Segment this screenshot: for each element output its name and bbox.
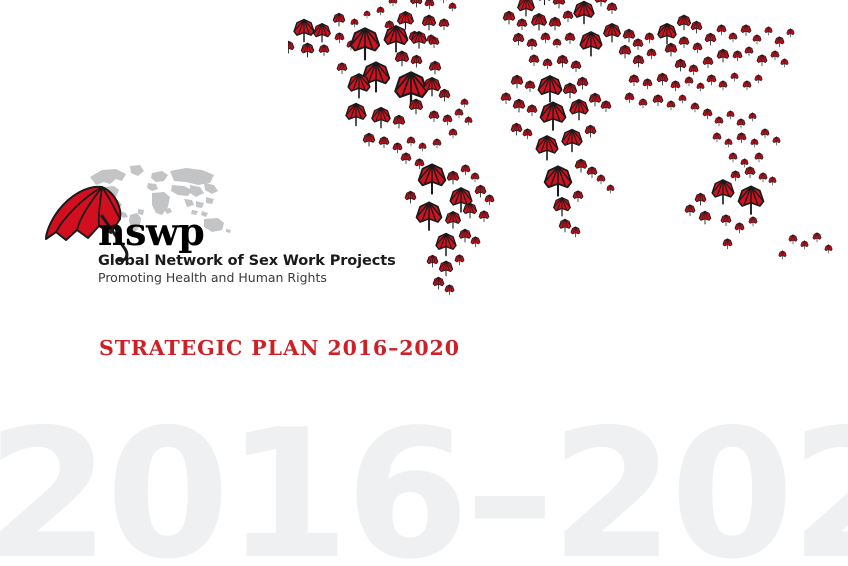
nswp-logo: nswp Global Network of Sex Work Projects… <box>40 163 400 288</box>
umbrella-cluster-europe <box>503 0 635 72</box>
nswp-wordmark: nswp <box>98 212 204 252</box>
logo-tagline-secondary: Promoting Health and Human Rights <box>98 270 327 285</box>
year-range-watermark: 2016–2020 <box>0 406 848 566</box>
umbrella-cluster-africa <box>501 75 614 237</box>
umbrella-cluster-southeast-asia <box>703 109 780 167</box>
logo-tagline-primary: Global Network of Sex Work Projects <box>98 253 396 270</box>
year-range-watermark-text: 2016–2020 <box>0 406 848 566</box>
umbrella-cluster-middle-east-asia <box>619 15 794 112</box>
umbrella-cluster-north-america <box>288 13 450 169</box>
cover-page: nswp Global Network of Sex Work Projects… <box>0 0 848 566</box>
page-title: STRATEGIC PLAN 2016–2020 <box>99 336 460 360</box>
umbrella-cluster-south-america <box>405 164 494 295</box>
umbrella-cluster-australia-oceania <box>685 167 832 259</box>
umbrella-cluster-caribbean <box>429 99 472 138</box>
